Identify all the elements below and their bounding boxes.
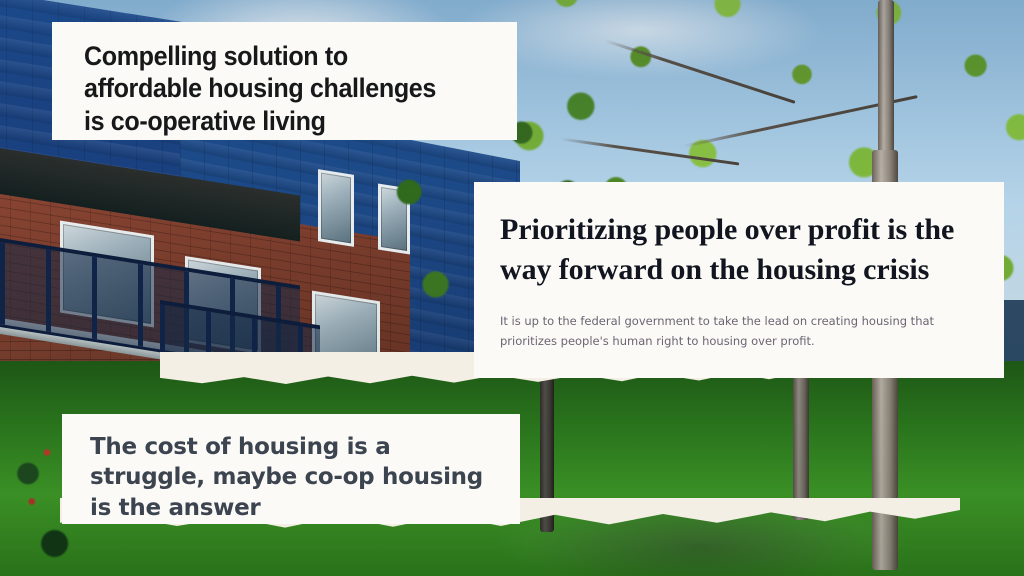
lawn-shadow: [520, 426, 1024, 576]
subtitle-text-prioritizing: It is up to the federal government to ta…: [500, 311, 970, 351]
headline-card-cost[interactable]: The cost of housing is a struggle, maybe…: [62, 414, 520, 524]
tree-trunk-left: [540, 372, 554, 532]
headline-text-cost: The cost of housing is a struggle, maybe…: [90, 432, 494, 523]
headline-card-compelling[interactable]: Compelling solution to affordable housin…: [52, 22, 517, 140]
collage-canvas: Compelling solution to affordable housin…: [0, 0, 1024, 576]
headline-card-prioritizing[interactable]: Prioritizing people over profit is the w…: [474, 182, 1004, 378]
headline-text-compelling: Compelling solution to affordable housin…: [84, 40, 463, 137]
headline-text-prioritizing: Prioritizing people over profit is the w…: [500, 210, 972, 289]
tree-trunk-midground: [793, 360, 809, 520]
